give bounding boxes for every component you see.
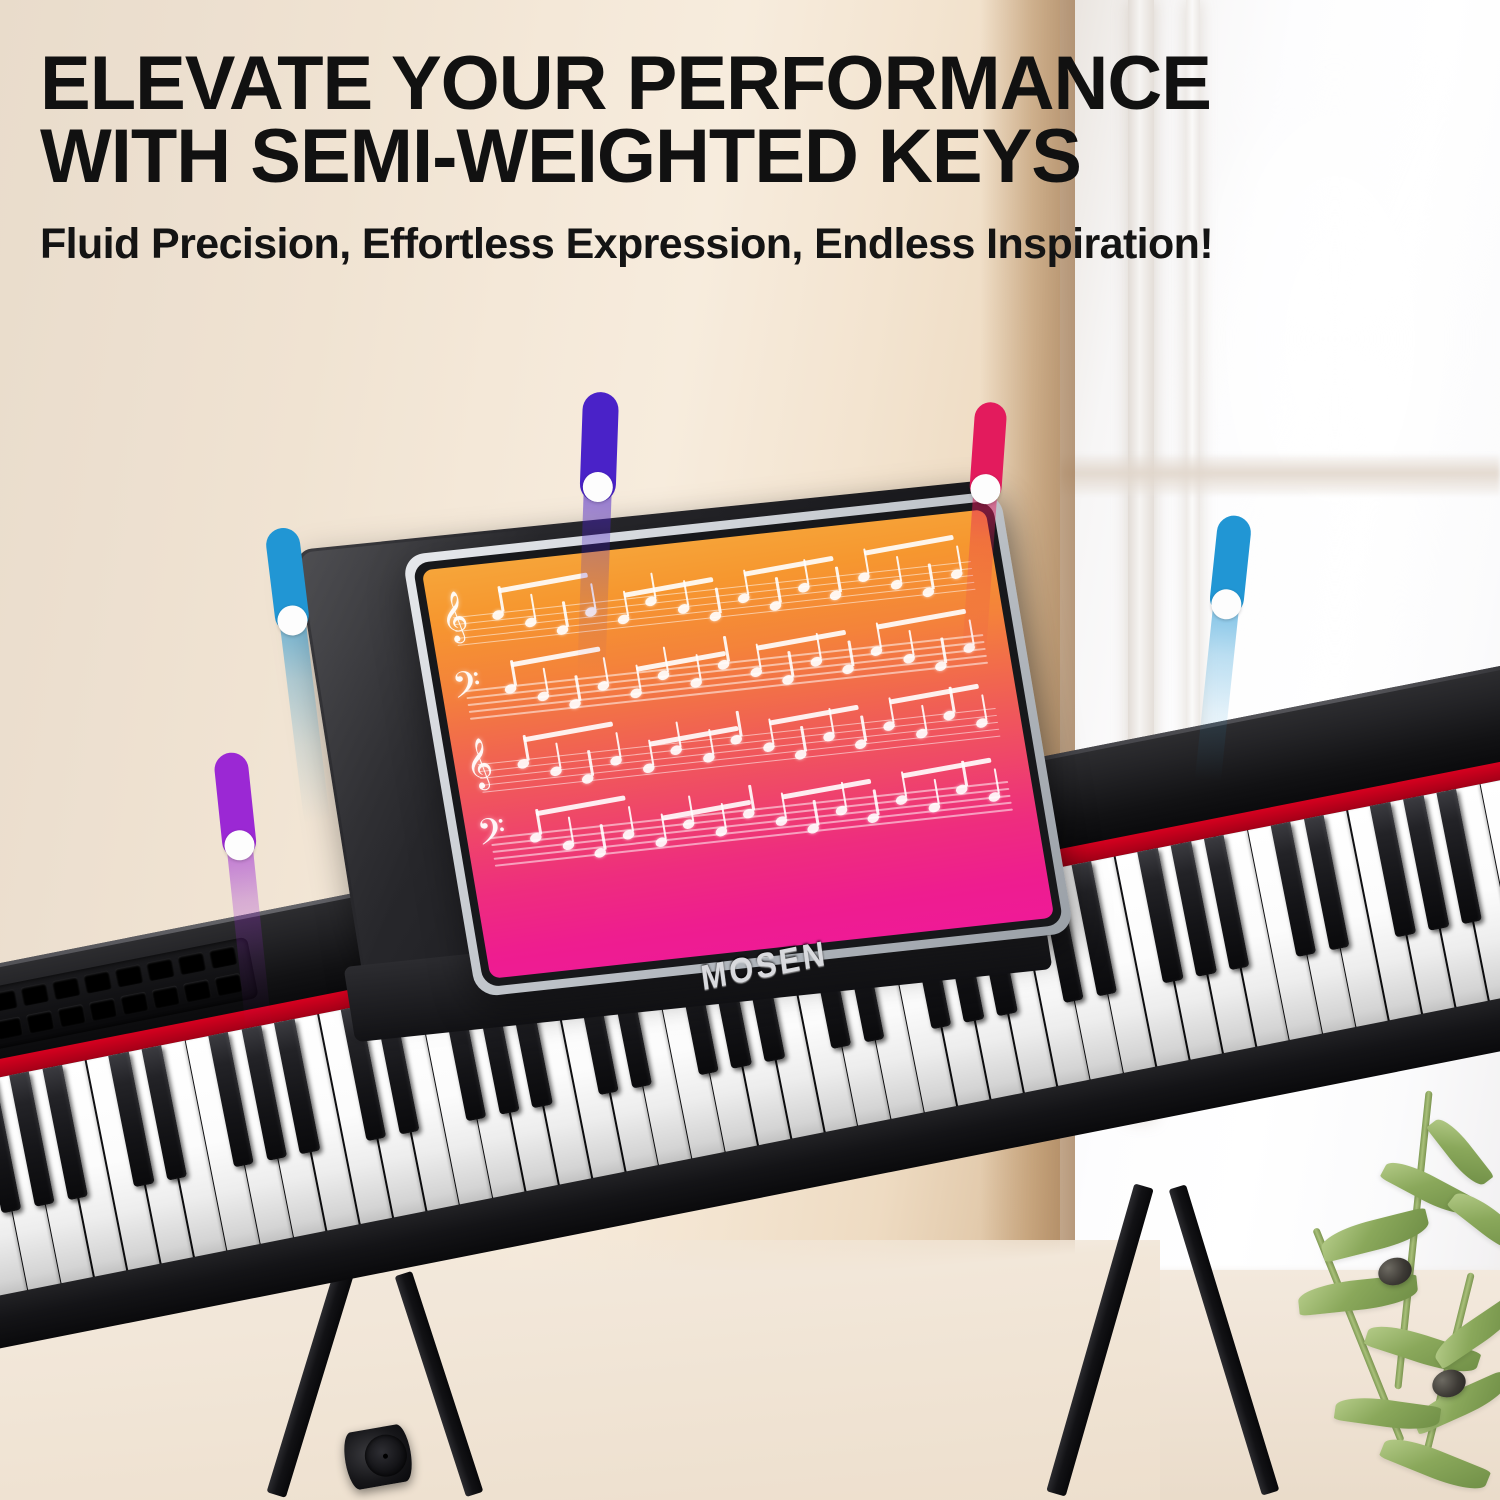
note-beam xyxy=(523,721,613,742)
grille-slot xyxy=(57,1004,86,1028)
grille-slot xyxy=(88,998,117,1022)
clef-symbol: 𝄢 xyxy=(475,814,511,860)
olive-branch-plant xyxy=(1260,1080,1500,1500)
note-beam xyxy=(901,758,991,779)
product-marketing-image: ELEVATE YOUR PERFORMANCE WITH SEMI-WEIGH… xyxy=(0,0,1500,1500)
clef-symbol: 𝄞 xyxy=(462,741,495,787)
plant-leaf xyxy=(1379,1430,1491,1497)
note-beam xyxy=(536,796,626,817)
grille-slot xyxy=(0,1016,24,1040)
plant-leaf xyxy=(1447,1185,1500,1261)
window-mullion-horizontal xyxy=(1060,455,1500,495)
clef-symbol: 𝄞 xyxy=(438,594,471,640)
note-beam xyxy=(863,534,953,555)
note-stem xyxy=(723,636,730,662)
subheadline: Fluid Precision, Effortless Expression, … xyxy=(40,220,1400,269)
grille-slot xyxy=(151,985,180,1009)
note-beam xyxy=(743,556,833,577)
marker-tail xyxy=(577,488,611,674)
grille-slot xyxy=(26,1010,55,1034)
grille-slot xyxy=(146,958,175,982)
grille-slot xyxy=(177,951,206,975)
grille-slot xyxy=(183,979,212,1003)
plant-leaf xyxy=(1334,1393,1442,1434)
clef-symbol: 𝄢 xyxy=(450,667,486,713)
grille-slot xyxy=(52,976,81,1000)
note-beam xyxy=(889,683,979,704)
headline-line-2: WITH SEMI-WEIGHTED KEYS xyxy=(40,121,1400,194)
headline-block: ELEVATE YOUR PERFORMANCE WITH SEMI-WEIGH… xyxy=(40,48,1400,269)
note-beam xyxy=(768,705,858,726)
page-title: ELEVATE YOUR PERFORMANCE WITH SEMI-WEIGH… xyxy=(40,48,1400,194)
grille-slot xyxy=(114,964,143,988)
grille-slot xyxy=(20,983,49,1007)
note-beam xyxy=(756,630,846,651)
note-stem xyxy=(736,711,743,737)
tablet-screen-sheet-music[interactable]: 𝄞𝄢𝄞𝄢 xyxy=(422,509,1055,978)
headline-line-1: ELEVATE YOUR PERFORMANCE xyxy=(40,48,1400,121)
grille-slot xyxy=(120,991,149,1015)
note-stem xyxy=(650,572,657,598)
note-stem xyxy=(748,785,755,811)
grille-slot xyxy=(83,970,112,994)
note-beam xyxy=(876,609,966,630)
note-beam xyxy=(498,572,588,593)
grille-slot xyxy=(0,989,18,1013)
